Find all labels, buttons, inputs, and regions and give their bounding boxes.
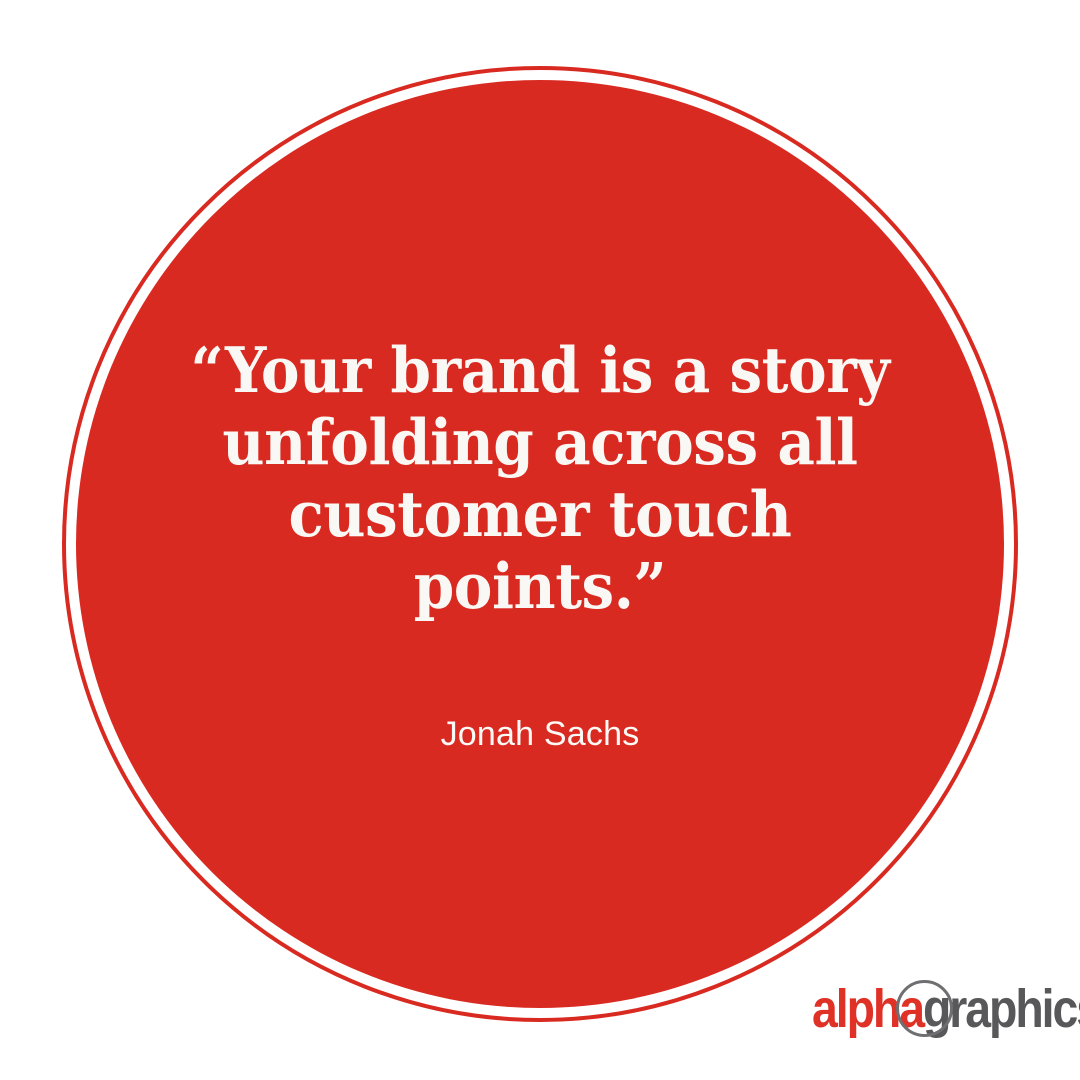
logo-wordmark: alphagraphics® (812, 978, 1022, 1040)
logo-graphics-text: graphics (923, 982, 1080, 1036)
quote-text: “Your brand is a story unfolding across … (165, 334, 916, 622)
quote-card: “Your brand is a story unfolding across … (0, 0, 1080, 1080)
alphagraphics-logo[interactable]: alphagraphics® (812, 978, 1056, 1040)
logo-alpha-text: alpha (812, 982, 923, 1036)
red-circle-badge: “Your brand is a story unfolding across … (62, 66, 1018, 1022)
quote-attribution: Jonah Sachs (441, 622, 640, 754)
quote-block: “Your brand is a story unfolding across … (62, 66, 1018, 1022)
